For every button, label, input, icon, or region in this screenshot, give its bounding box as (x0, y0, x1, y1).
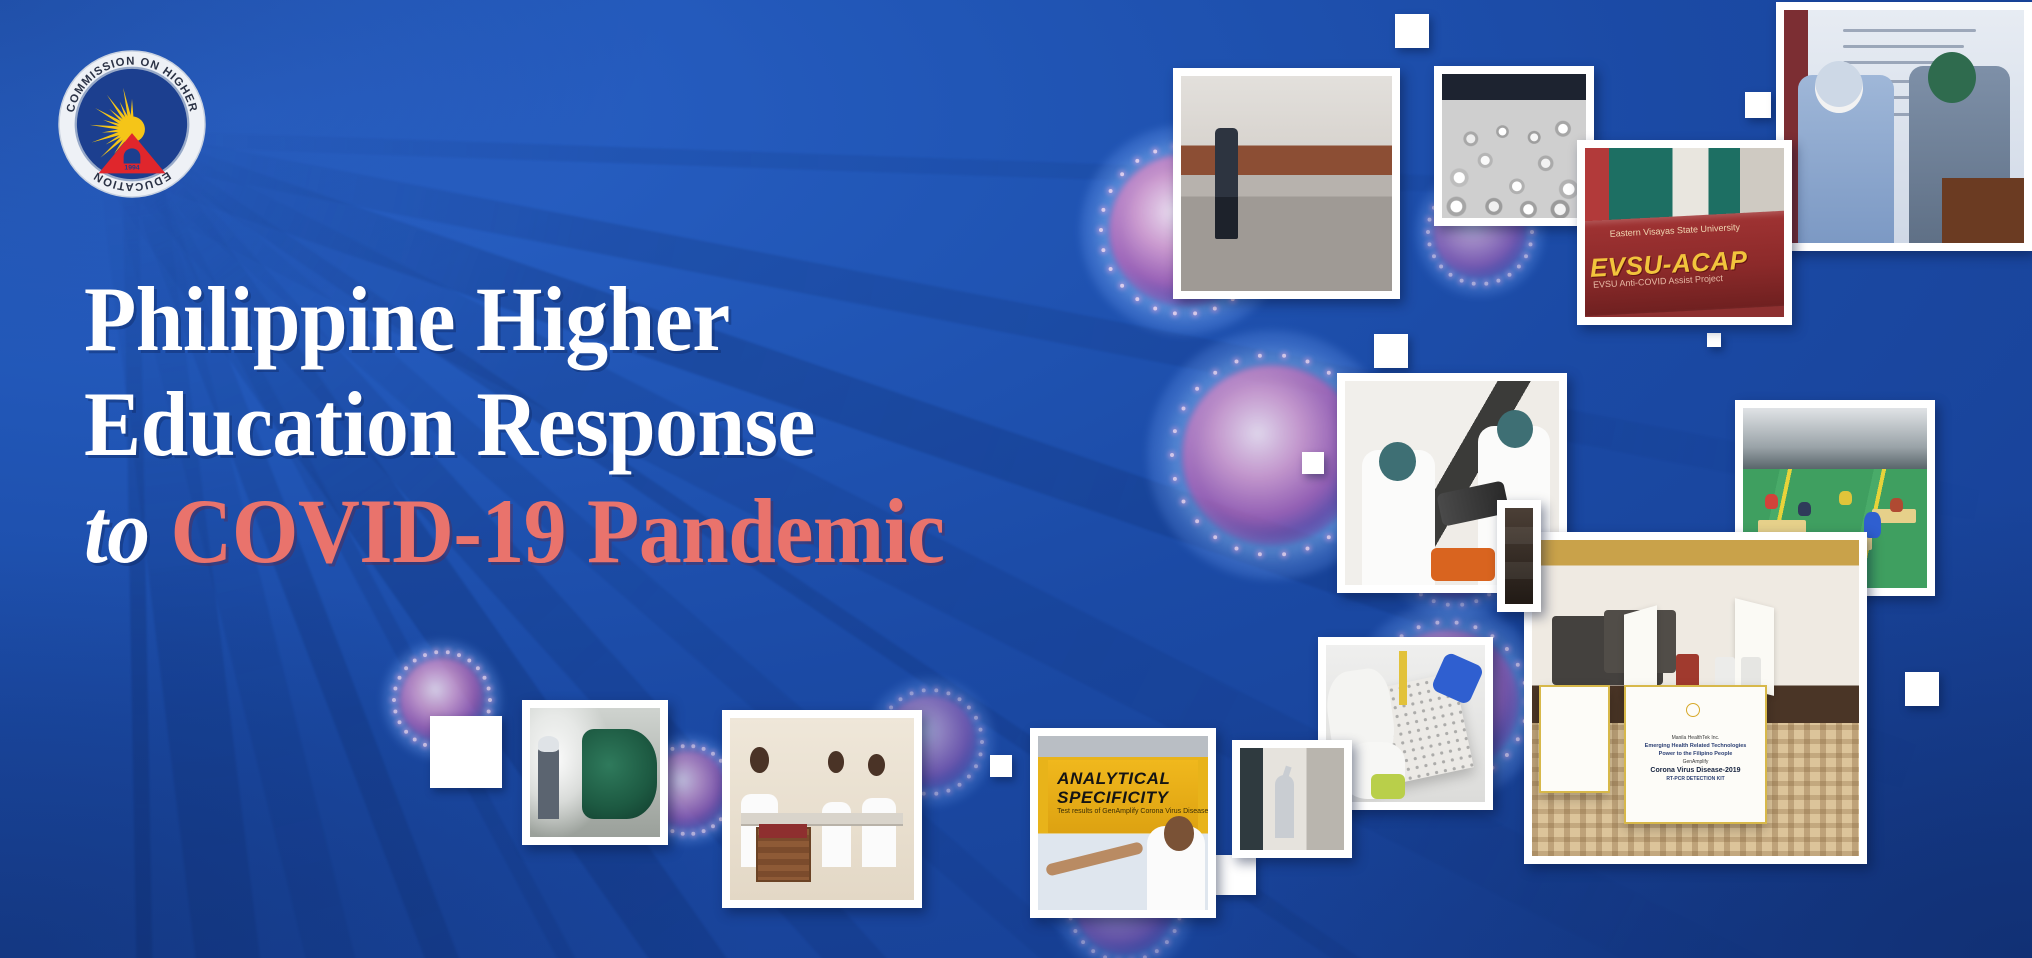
collage-photo-dark-shelf (1497, 500, 1541, 612)
evsu-banner-org: Eastern Visayas State University (1610, 222, 1741, 239)
collage-photo-evsu-acap: Eastern Visayas State University EVSU-AC… (1577, 140, 1792, 325)
kit-label-line-2: Emerging Health Related Technologies (1645, 743, 1747, 749)
slide-title-line-1: ANALYTICAL (1057, 769, 1170, 789)
accent-square (1707, 333, 1721, 347)
covid-response-banner: 1994 COMMISSION ON HIGHER EDUCATION Phil… (0, 0, 2032, 958)
accent-square (1302, 452, 1324, 474)
accent-square (990, 755, 1012, 777)
kit-label-line-1: Manila HealthTek Inc. (1672, 735, 1720, 741)
collage-photo-test-kit: Manila HealthTek Inc. Emerging Health Re… (1524, 532, 1867, 864)
collage-photo-ppe-pair (1776, 2, 2032, 251)
collage-photo-analytical: ANALYTICAL SPECIFICITY Test results of G… (1030, 728, 1216, 918)
kit-label-line-4: GenAmplify (1683, 759, 1709, 765)
kit-label-line-3: Power to the Filipino People (1659, 751, 1733, 757)
collage-photo-sprayer (522, 700, 668, 845)
accent-square (1216, 855, 1256, 895)
slide-subtitle: Test results of GenAmplify Corona Virus … (1057, 807, 1208, 818)
accent-square (1395, 14, 1429, 48)
accent-square (1745, 92, 1771, 118)
accent-square (1905, 672, 1939, 706)
kit-label-line-5: Corona Virus Disease-2019 (1650, 767, 1740, 774)
collage-photo-relief-goods (1434, 66, 1594, 226)
accent-square (430, 716, 502, 788)
kit-label-line-6: RT-PCR DETECTION KIT (1666, 776, 1724, 782)
photo-collage: Eastern Visayas State University EVSU-AC… (0, 0, 2032, 958)
collage-photo-corridor-person (1173, 68, 1400, 299)
slide-title-line-2: SPECIFICITY (1057, 788, 1168, 808)
accent-square (1374, 334, 1408, 368)
collage-photo-corridor-spray (1232, 740, 1352, 858)
collage-photo-workroom (722, 710, 922, 908)
